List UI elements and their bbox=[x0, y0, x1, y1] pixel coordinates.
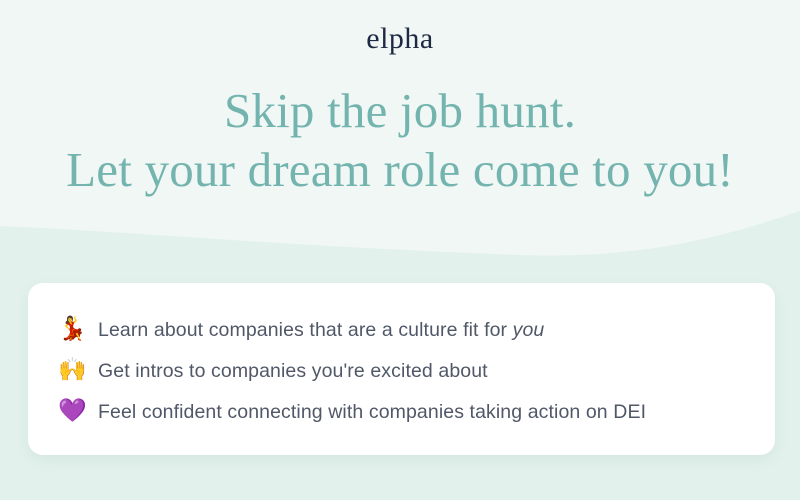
landing-page: elpha Skip the job hunt. Let your dream … bbox=[0, 0, 800, 500]
raising-hands-emoji: 🙌 bbox=[58, 359, 98, 382]
dancer-emoji: 💃 bbox=[58, 318, 98, 341]
benefit-item-dei: 💜 Feel confident connecting with compani… bbox=[58, 391, 745, 432]
benefit-text-emphasis: you bbox=[513, 319, 545, 341]
benefit-label-dei: Feel confident connecting with companies… bbox=[98, 399, 745, 425]
benefit-item-intros: 🙌 Get intros to companies you're excited… bbox=[58, 350, 745, 391]
headline-line-1: Skip the job hunt. bbox=[0, 81, 800, 140]
brand-logo[interactable]: elpha bbox=[0, 0, 800, 55]
headline-line-2: Let your dream role come to you! bbox=[0, 140, 800, 199]
page-title: Skip the job hunt. Let your dream role c… bbox=[0, 55, 800, 199]
benefit-item-culture-fit: 💃 Learn about companies that are a cultu… bbox=[58, 309, 745, 350]
benefit-label-intros: Get intros to companies you're excited a… bbox=[98, 358, 745, 384]
benefits-card: 💃 Learn about companies that are a cultu… bbox=[28, 283, 775, 455]
benefit-text-plain: Learn about companies that are a culture… bbox=[98, 319, 513, 341]
page-header: elpha Skip the job hunt. Let your dream … bbox=[0, 0, 800, 199]
purple-heart-emoji: 💜 bbox=[58, 400, 98, 423]
benefit-label-culture-fit: Learn about companies that are a culture… bbox=[98, 317, 745, 343]
